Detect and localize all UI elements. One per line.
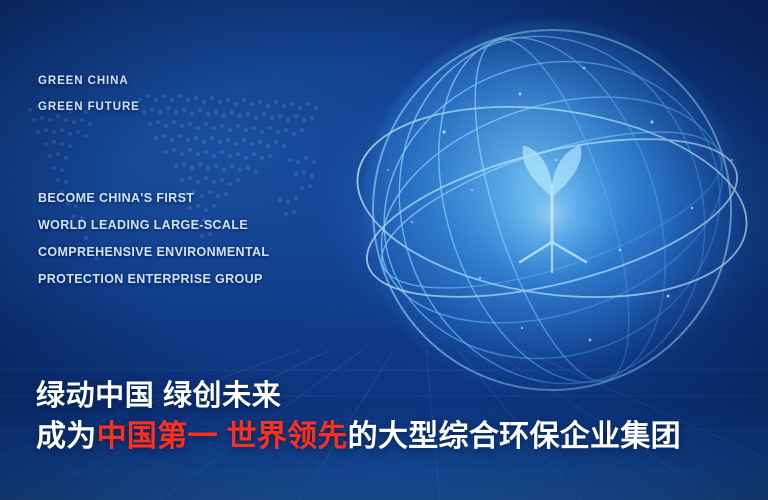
headline-highlight: 中国第一 世界领先 [97, 420, 348, 453]
hero-banner: GREEN CHINA GREEN FUTURE BECOME CHINA'S … [0, 0, 768, 500]
tagline-line-4: PROTECTION ENTERPRISE GROUP [38, 266, 269, 293]
headline-line-1: 绿动中国 绿创未来 [36, 376, 746, 416]
tagline-line-2: WORLD LEADING LARGE-SCALE [38, 212, 269, 239]
tagline-text: BECOME CHINA'S FIRST WORLD LEADING LARGE… [38, 185, 269, 293]
headline-line-2: 成为中国第一 世界领先的大型综合环保企业集团 [36, 416, 746, 458]
tagline-line-1: BECOME CHINA'S FIRST [38, 185, 269, 212]
headline-block: 绿动中国 绿创未来 成为中国第一 世界领先的大型综合环保企业集团 [36, 376, 746, 458]
eyebrow-line-1: GREEN CHINA [38, 68, 140, 94]
tagline-line-3: COMPREHENSIVE ENVIRONMENTAL [38, 239, 269, 266]
eyebrow-line-2: GREEN FUTURE [38, 94, 140, 120]
headline-suffix: 的大型综合环保企业集团 [348, 420, 681, 453]
eyebrow-text: GREEN CHINA GREEN FUTURE [38, 68, 140, 120]
headline-prefix: 成为 [36, 420, 97, 453]
